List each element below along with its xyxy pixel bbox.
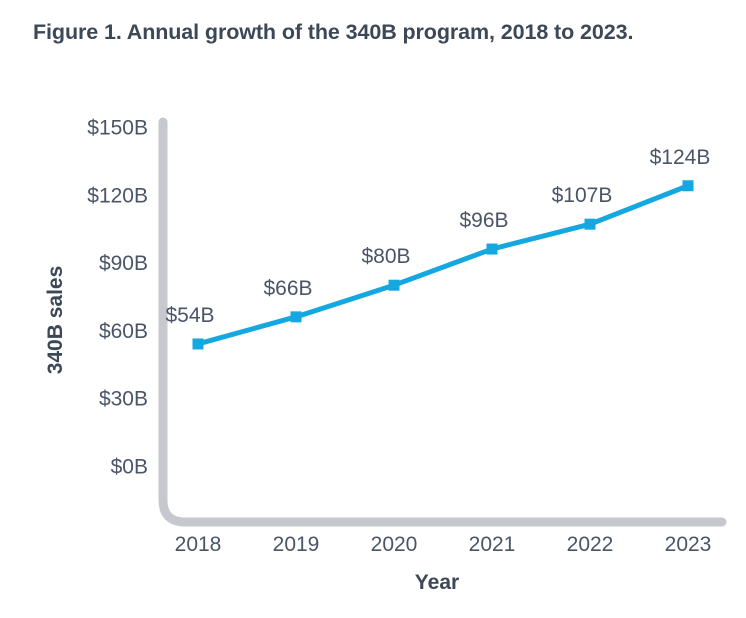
x-tick-label: 2023 <box>665 533 712 556</box>
x-tick-label: 2022 <box>567 533 614 556</box>
data-point-marker <box>193 338 204 349</box>
x-axis-title: Year <box>415 571 459 594</box>
line-chart: $0B$30B$60B$90B$120B$150B 20182019202020… <box>0 0 746 618</box>
y-tick-label: $30B <box>99 388 148 411</box>
y-tick-label: $150B <box>87 117 148 140</box>
data-point-label: $54B <box>165 304 214 327</box>
axis-spine <box>163 122 722 522</box>
y-tick-label: $120B <box>87 184 148 207</box>
data-point-label: $124B <box>650 146 711 169</box>
y-tick-label: $0B <box>111 456 148 479</box>
x-tick-label: 2019 <box>273 533 320 556</box>
y-tick-label: $60B <box>99 320 148 343</box>
y-axis-title: 340B sales <box>44 266 67 375</box>
x-tick-label: 2018 <box>175 533 222 556</box>
data-point-marker <box>487 244 498 255</box>
data-point-marker <box>389 280 400 291</box>
data-point-label: $96B <box>459 209 508 232</box>
figure-container: Figure 1. Annual growth of the 340B prog… <box>0 0 746 618</box>
data-point-label: $107B <box>552 184 613 207</box>
y-tick-label: $90B <box>99 252 148 275</box>
y-axis-tick-labels: $0B$30B$60B$90B$120B$150B <box>87 117 148 479</box>
data-point-marker <box>683 180 694 191</box>
data-point-label: $80B <box>361 245 410 268</box>
data-point-label: $66B <box>263 277 312 300</box>
data-point-labels: $54B$66B$80B$96B$107B$124B <box>165 146 710 327</box>
data-point-marker <box>585 219 596 230</box>
data-point-marker <box>291 311 302 322</box>
x-axis-tick-labels: 201820192020202120222023 <box>175 533 712 556</box>
x-tick-label: 2020 <box>371 533 418 556</box>
series-line-340b-sales <box>198 186 688 344</box>
x-tick-label: 2021 <box>469 533 516 556</box>
